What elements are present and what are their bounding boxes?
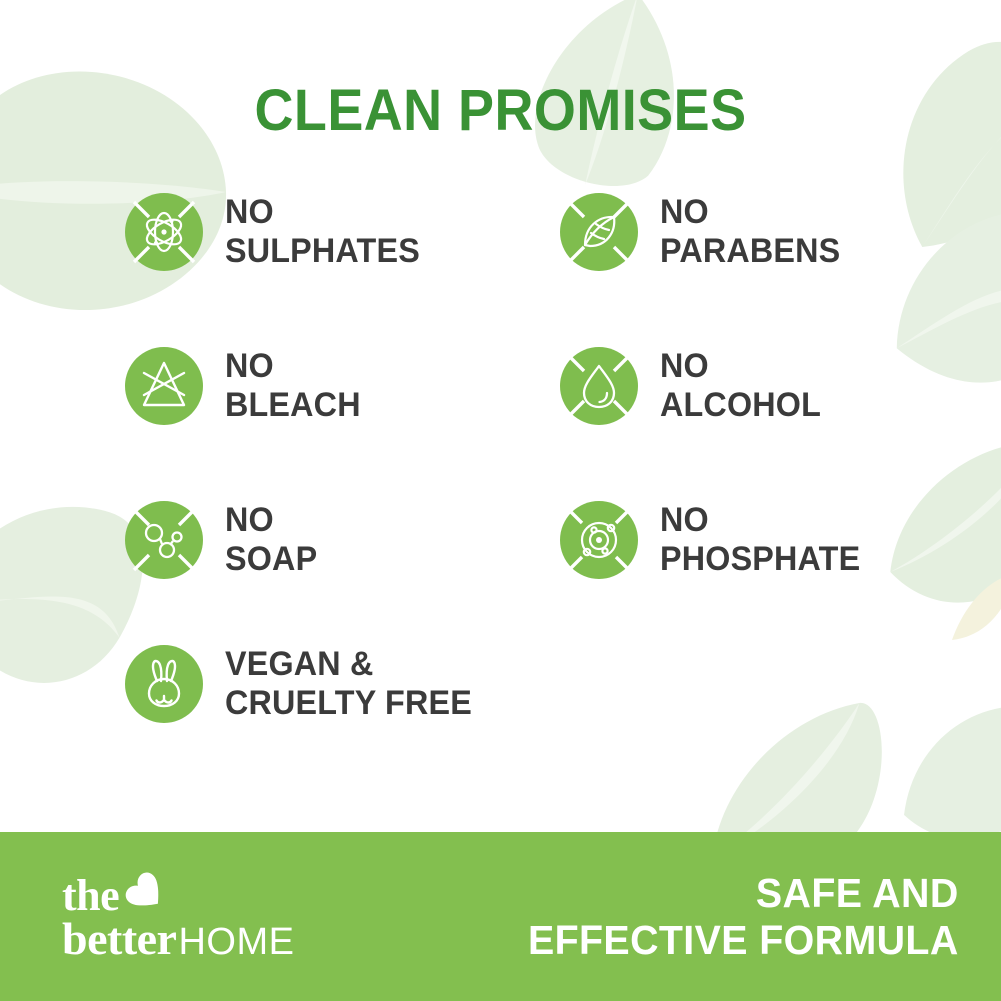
water-droplet-icon [560,347,638,425]
brand-logo-better: better [62,918,176,960]
promise-label-no-sulphates: NO SULPHATES [225,193,420,272]
no-phosphate-badge [560,501,638,579]
page-title: CLEAN PROMISES [0,82,1001,140]
clean-promises-infographic: CLEAN PROMISES [0,0,1001,1001]
promise-item-no-parabens: NO PARABENS [560,193,850,272]
no-parabens-badge [560,193,638,271]
promises-list: NO SULPHATES [0,185,1001,785]
promise-item-vegan-cruelty-free: VEGAN & CRUELTY FREE [125,645,485,724]
promise-item-no-soap: NO SOAP [125,501,322,580]
brand-logo-top-row: the [62,872,294,916]
no-alcohol-badge [560,347,638,425]
no-sulphates-badge [125,193,203,271]
no-bleach-badge [125,347,203,425]
promise-label-vegan-cruelty-free: VEGAN & CRUELTY FREE [225,645,472,724]
promise-item-no-sulphates: NO SULPHATES [125,193,430,272]
atom-icon [125,193,203,271]
promise-item-no-phosphate: NO PHOSPHATE [560,501,871,580]
heart-icon [125,872,167,914]
brand-logo-the: the [62,875,119,917]
promise-label-no-soap: NO SOAP [225,501,317,580]
footer-bar: the better HOME SAFE AND EFFECTIVE FORMU… [0,832,1001,1001]
promise-label-no-parabens: NO PARABENS [660,193,840,272]
footer-tagline: SAFE AND EFFECTIVE FORMULA [528,870,959,963]
bleach-triangle-icon [125,347,203,425]
page-title-text: CLEAN PROMISES [35,82,966,140]
leaf-icon [560,193,638,271]
bubbles-molecule-icon [125,501,203,579]
orbit-atom-icon [560,501,638,579]
rabbit-icon [125,645,203,723]
brand-logo-bottom-row: better HOME [62,918,294,960]
brand-logo: the better HOME [62,872,294,960]
no-soap-badge [125,501,203,579]
promise-item-no-bleach: NO BLEACH [125,347,368,426]
brand-logo-home: HOME [178,925,294,960]
promise-label-no-bleach: NO BLEACH [225,347,361,426]
promise-item-no-alcohol: NO ALCOHOL [560,347,830,426]
promise-label-no-phosphate: NO PHOSPHATE [660,501,860,580]
promise-label-no-alcohol: NO ALCOHOL [660,347,821,426]
vegan-cruelty-free-badge [125,645,203,723]
